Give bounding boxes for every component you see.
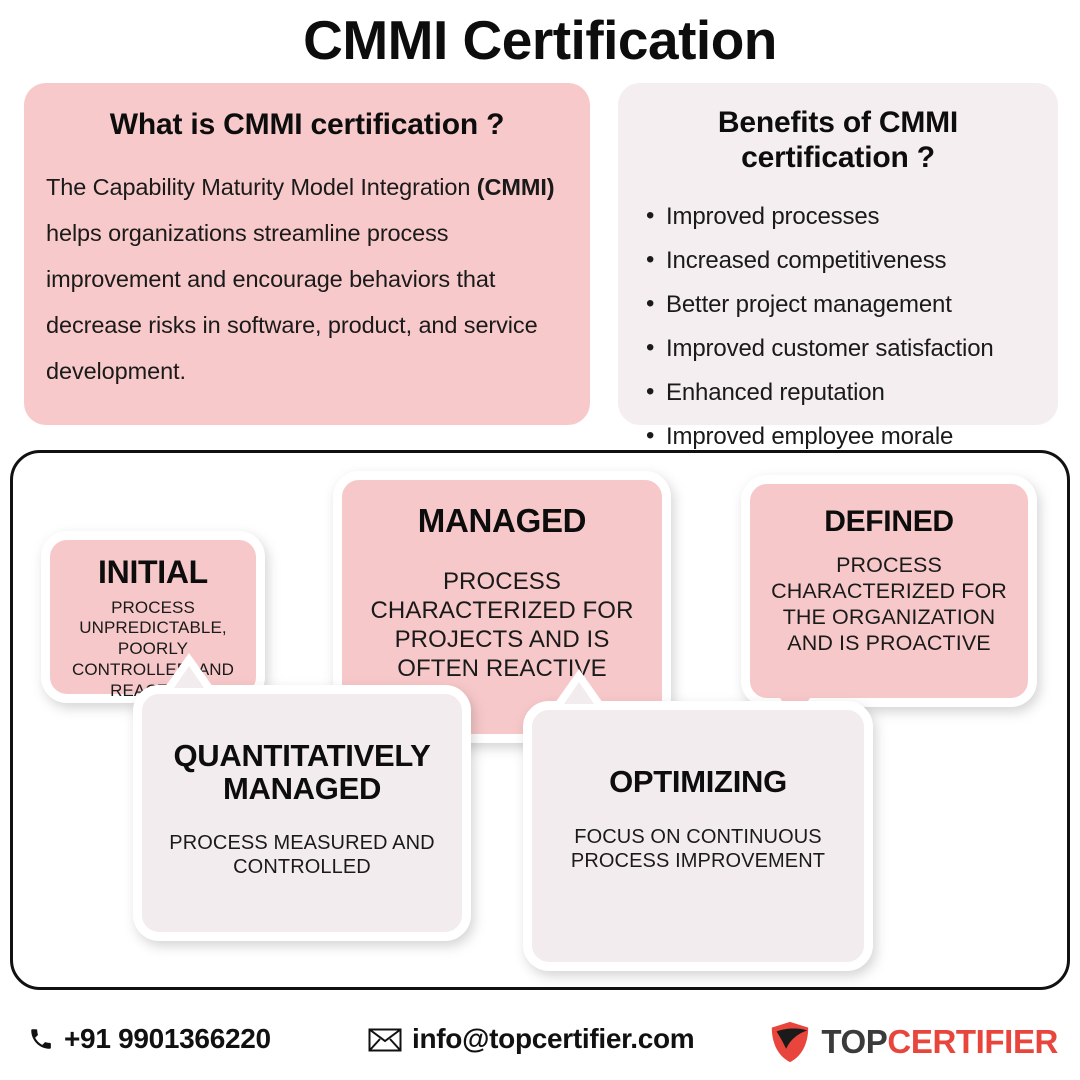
maturity-card-title: MANAGED bbox=[418, 504, 586, 539]
phone-icon bbox=[28, 1026, 54, 1052]
list-item: Improved processes bbox=[640, 195, 1036, 239]
maturity-card-description: FOCUS ON CONTINUOUS PROCESS IMPROVEMENT bbox=[544, 825, 852, 874]
list-item: Improved customer satisfaction bbox=[640, 327, 1036, 371]
list-item: Better project management bbox=[640, 283, 1036, 327]
phone-number: +91 9901366220 bbox=[64, 1023, 271, 1055]
footer: +91 9901366220 info@topcertifier.com bbox=[0, 1005, 1080, 1080]
what-body-part1: The Capability Maturity Model Integratio… bbox=[46, 174, 477, 200]
benefits-box: Benefits of CMMI certification ? Improve… bbox=[618, 83, 1058, 425]
maturity-card-title: QUANTITATIVELY MANAGED bbox=[154, 740, 450, 805]
maturity-card-title: OPTIMIZING bbox=[609, 766, 787, 799]
topcertifier-logo[interactable]: TOPCERTIFIER bbox=[767, 1019, 1058, 1065]
maturity-card-description: PROCESS CHARACTERIZED FOR PROJECTS AND I… bbox=[354, 567, 650, 684]
what-is-cmmi-heading: What is CMMI certification ? bbox=[46, 101, 568, 142]
maturity-card-defined: DEFINED PROCESS CHARACTERIZED FOR THE OR… bbox=[741, 475, 1037, 707]
what-body-part2: helps organizations streamline process i… bbox=[46, 220, 538, 384]
logo-word-top: TOP bbox=[821, 1023, 887, 1061]
maturity-card-quantitatively-managed: QUANTITATIVELY MANAGED PROCESS MEASURED … bbox=[133, 685, 471, 941]
logo-word-certifier: CERTIFIER bbox=[887, 1023, 1058, 1061]
page-title: CMMI Certification bbox=[0, 8, 1080, 72]
maturity-card-description: PROCESS MEASURED AND CONTROLLED bbox=[154, 831, 450, 880]
maturity-card-initial: INITIAL PROCESS UNPREDICTABLE, POORLY CO… bbox=[41, 531, 265, 703]
speech-tail-quant-inner bbox=[174, 666, 204, 688]
benefits-heading: Benefits of CMMI certification ? bbox=[640, 101, 1036, 175]
what-is-cmmi-box: What is CMMI certification ? The Capabil… bbox=[24, 83, 590, 425]
what-is-cmmi-body: The Capability Maturity Model Integratio… bbox=[46, 164, 568, 394]
maturity-card-title: DEFINED bbox=[824, 506, 954, 538]
infographic-page: CMMI Certification What is CMMI certific… bbox=[0, 0, 1080, 1080]
maturity-card-optimizing: OPTIMIZING FOCUS ON CONTINUOUS PROCESS I… bbox=[523, 701, 873, 971]
contact-email[interactable]: info@topcertifier.com bbox=[368, 1023, 694, 1055]
benefits-list: Improved processes Increased competitive… bbox=[640, 195, 1036, 458]
contact-phone[interactable]: +91 9901366220 bbox=[28, 1023, 271, 1055]
maturity-card-description: PROCESS CHARACTERIZED FOR THE ORGANIZATI… bbox=[762, 552, 1016, 657]
maturity-card-title: INITIAL bbox=[98, 556, 208, 590]
maturity-levels-panel: INITIAL PROCESS UNPREDICTABLE, POORLY CO… bbox=[10, 450, 1070, 990]
shield-check-icon bbox=[767, 1019, 813, 1065]
logo-wordmark: TOPCERTIFIER bbox=[821, 1023, 1058, 1061]
list-item: Enhanced reputation bbox=[640, 371, 1036, 415]
email-address: info@topcertifier.com bbox=[412, 1023, 694, 1055]
what-body-bold: (CMMI) bbox=[477, 174, 555, 200]
envelope-icon bbox=[368, 1026, 402, 1052]
list-item: Increased competitiveness bbox=[640, 239, 1036, 283]
speech-tail-optimizing-inner bbox=[564, 682, 594, 704]
